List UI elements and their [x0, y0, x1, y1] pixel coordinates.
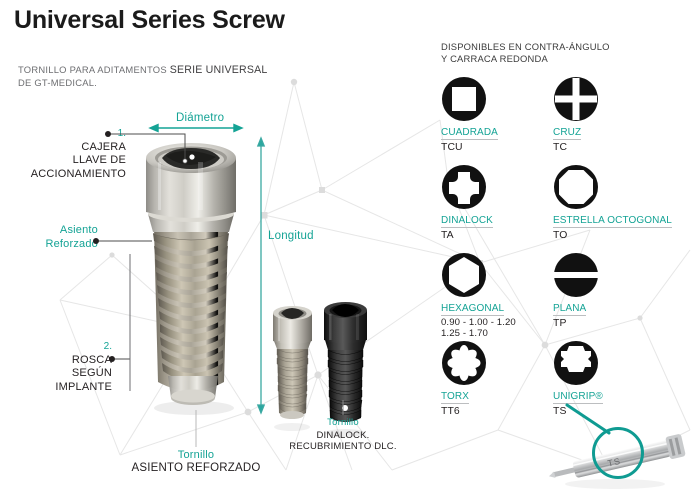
- dinalock-drive-icon: [441, 164, 487, 210]
- drive-code: TA: [441, 230, 551, 241]
- drive-name: CUADRADA: [441, 127, 498, 140]
- panel-heading-line2: Y CARRACA REDONDA: [441, 53, 610, 65]
- drive-item-cruz[interactable]: CRUZ TC: [553, 76, 663, 153]
- panel-heading-line1: DISPONIBLES EN CONTRA-ÁNGULO: [441, 41, 610, 53]
- caption-top: Tornillo: [283, 417, 403, 430]
- drive-sizes: 0.90 - 1.00 - 1.201.25 - 1.70: [441, 317, 551, 339]
- annotation-cajera: 1. CAJERA LLAVE DE ACCIONAMIENTO: [14, 127, 126, 181]
- drive-code: TT6: [441, 406, 551, 417]
- dimension-label-length: Longitud: [268, 230, 314, 242]
- drive-code: TCU: [441, 142, 551, 153]
- drive-name: ESTRELLA OCTOGONAL: [553, 215, 672, 228]
- poster-canvas: Universal Series Screw TORNILLO PARA ADI…: [0, 0, 700, 500]
- annotation-rosca: 2. ROSCA SEGÚN IMPLANTE: [14, 340, 112, 394]
- drive-name: HEXAGONAL: [441, 303, 504, 316]
- annotation-number-1: 1.: [14, 127, 126, 141]
- caption-line2: DE GT-MEDICAL.: [18, 77, 267, 90]
- caption-line1-plain: TORNILLO PARA ADITAMENTOS: [18, 64, 167, 75]
- octagon-drive-icon: [553, 164, 599, 210]
- annotation-line: Reforzado: [14, 238, 98, 252]
- annotation-line: Asiento: [14, 224, 98, 238]
- caption-line1-strong: SERIE UNIVERSAL: [170, 64, 268, 76]
- drive-code: TP: [553, 318, 663, 329]
- torx-drive-icon: [441, 340, 487, 386]
- intro-caption: TORNILLO PARA ADITAMENTOS SERIE UNIVERSA…: [18, 64, 267, 89]
- page-title: Universal Series Screw: [14, 6, 285, 35]
- drive-name: CRUZ: [553, 127, 581, 140]
- annotation-line: ACCIONAMIENTO: [14, 168, 126, 182]
- annotation-line: LLAVE DE: [14, 154, 126, 168]
- caption-screw-asiento-reforzado: Tornillo ASIENTO REFORZADO: [96, 449, 296, 474]
- hexagon-drive-icon: [441, 252, 487, 298]
- cross-drive-icon: [553, 76, 599, 122]
- annotation-line: SEGÚN: [14, 367, 112, 381]
- caption-bottom-1: DINALOCK.: [283, 430, 403, 441]
- drive-item-torx[interactable]: TORX TT6: [441, 340, 551, 417]
- annotation-number-2: 2.: [14, 340, 112, 354]
- drive-item-estrella-octogonal[interactable]: ESTRELLA OCTOGONAL TO: [553, 164, 693, 241]
- annotation-asiento-reforzado: Asiento Reforzado: [14, 224, 98, 251]
- drive-name: PLANA: [553, 303, 586, 316]
- caption-top: Tornillo: [96, 449, 296, 462]
- caption-bottom: ASIENTO REFORZADO: [96, 462, 296, 475]
- unigrip-drive-icon: [553, 340, 599, 386]
- drive-item-hexagonal[interactable]: HEXAGONAL 0.90 - 1.00 - 1.201.25 - 1.70: [441, 252, 551, 339]
- annotation-line: ROSCA: [14, 354, 112, 368]
- dimension-label-diameter: Diámetro: [176, 112, 224, 124]
- drive-item-dinalock[interactable]: DINALOCK TA: [441, 164, 551, 241]
- drive-item-plana[interactable]: PLANA TP: [553, 252, 663, 329]
- drive-code: TC: [553, 142, 663, 153]
- caption-bottom-2: RECUBRIMIENTO DLC.: [283, 441, 403, 452]
- annotation-line: IMPLANTE: [14, 381, 112, 395]
- screw-small-titanium-illustration: [266, 305, 320, 433]
- panel-heading: DISPONIBLES EN CONTRA-ÁNGULO Y CARRACA R…: [441, 41, 610, 65]
- drive-item-cuadrada[interactable]: CUADRADA TCU: [441, 76, 551, 153]
- unigrip-pointer-line: [565, 403, 625, 443]
- drive-name: DINALOCK: [441, 215, 493, 228]
- annotation-line: CAJERA: [14, 141, 126, 155]
- drive-name: TORX: [441, 391, 469, 404]
- screw-universal-illustration: [132, 136, 250, 416]
- drive-code: TO: [553, 230, 693, 241]
- slot-drive-icon: [553, 252, 599, 298]
- square-drive-icon: [441, 76, 487, 122]
- caption-screw-dinalock: Tornillo DINALOCK. RECUBRIMIENTO DLC.: [283, 417, 403, 452]
